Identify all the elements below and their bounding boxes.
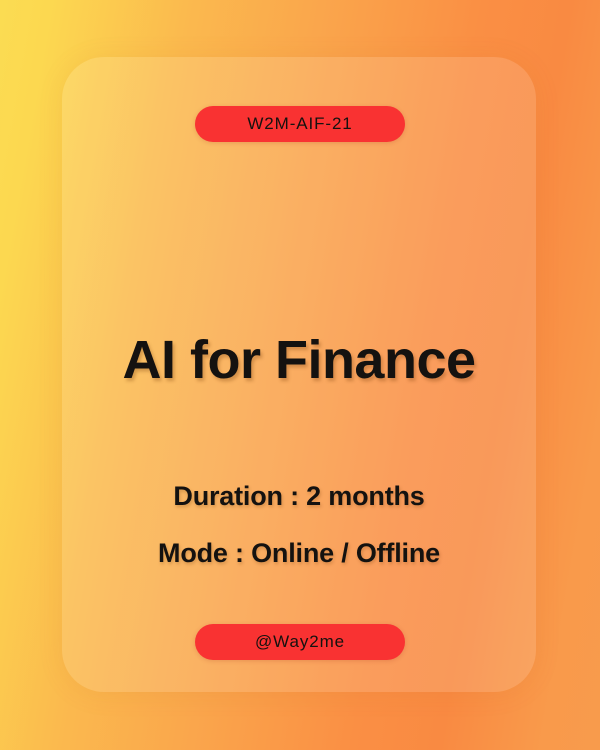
course-poster: W2M-AIF-21 AI for Finance Duration : 2 m…	[0, 0, 600, 750]
course-code-badge: W2M-AIF-21	[195, 106, 405, 142]
handle-badge: @Way2me	[195, 624, 405, 660]
course-details: Duration : 2 months Mode : Online / Offl…	[62, 481, 536, 569]
detail-mode: Mode : Online / Offline	[62, 538, 536, 569]
course-card: W2M-AIF-21 AI for Finance Duration : 2 m…	[62, 57, 536, 692]
handle-label: @Way2me	[255, 632, 345, 652]
detail-duration: Duration : 2 months	[62, 481, 536, 512]
page-title: AI for Finance	[62, 329, 536, 391]
course-code-label: W2M-AIF-21	[247, 114, 352, 134]
